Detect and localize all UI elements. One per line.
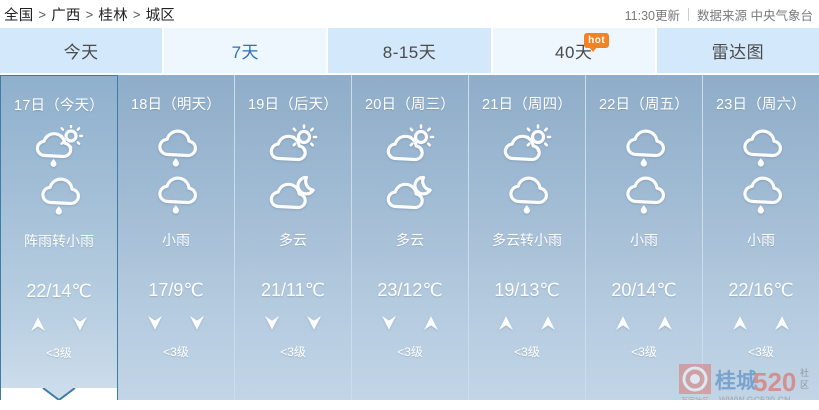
wind-arrow-down-icon [379,313,399,333]
seven-day-forecast: 17日（今天）阵雨转小雨22/14℃<3级18日（明天）小雨17/9℃<3级19… [0,75,819,400]
temperature-range: 21/11℃ [261,280,325,301]
weather-icons [733,124,789,216]
wind-arrow-up-icon [730,313,750,333]
sun-cloud-icon [382,124,438,169]
forecast-range-tabs: 今天 7天 8-15天 40天 hot 雷达图 [0,28,819,73]
wind-arrow-down-icon [187,313,207,333]
sun-cloud-icon [265,124,321,169]
tab-today[interactable]: 今天 [0,28,164,73]
weather-icons [31,125,87,217]
rain-cloud-icon [31,172,87,217]
page-header: 全国 > 广西 > 桂林 > 城区 11:30更新 数据来源 中央气象台 [0,0,819,28]
forecast-date: 21日（周四） [482,93,572,114]
tab-40-days[interactable]: 40天 hot [493,28,657,73]
breadcrumb-separator-icon: > [86,7,94,22]
wind-arrow-down-icon [304,313,324,333]
forecast-date: 20日（周三） [365,93,455,114]
forecast-day-column[interactable]: 20日（周三）多云23/12℃<3级 [352,75,469,400]
hot-badge-icon: hot [584,33,609,48]
wind-arrow-up-icon [421,313,441,333]
wind-direction-row [730,313,792,333]
wind-arrow-up-icon [772,313,792,333]
sun-shower-icon [31,125,87,170]
update-time: 11:30更新 [625,5,680,24]
wind-level: <3级 [163,343,189,360]
wind-level: <3级 [46,344,72,361]
temperature-range: 22/14℃ [26,281,91,302]
forecast-date: 17日（今天） [14,94,104,115]
wind-direction-row [262,313,324,333]
moon-cloud-icon [382,171,438,216]
sun-cloud-icon [499,124,555,169]
wind-arrow-up-icon [655,313,675,333]
meta-divider [688,8,689,21]
weather-condition: 阵雨转小雨 [24,231,94,251]
wind-arrow-up-icon [28,314,48,334]
moon-cloud-icon [265,171,321,216]
wind-arrow-up-icon [496,313,516,333]
wind-level: <3级 [631,343,657,360]
breadcrumb: 全国 > 广西 > 桂林 > 城区 [4,4,175,25]
tab-8-15-days-label: 8-15天 [383,38,437,63]
tab-7-days-label: 7天 [232,38,259,63]
rain-cloud-icon [499,171,555,216]
tab-radar-map-label: 雷达图 [712,38,765,63]
weather-icons [148,124,204,216]
wind-arrow-up-icon [538,313,558,333]
forecast-day-column[interactable]: 19日（后天）多云21/11℃<3级 [235,75,352,400]
tab-7-days[interactable]: 7天 [164,28,328,73]
tab-today-label: 今天 [64,38,99,63]
forecast-day-column[interactable]: 23日（周六）小雨22/16℃<3级 [703,75,819,400]
weather-forecast-page: 全国 > 广西 > 桂林 > 城区 11:30更新 数据来源 中央气象台 今天 … [0,0,819,410]
weather-condition: 多云转小雨 [492,230,562,250]
rain-cloud-icon [616,124,672,169]
breadcrumb-item-district[interactable]: 城区 [146,4,175,25]
forecast-day-column[interactable]: 22日（周五）小雨20/14℃<3级 [586,75,703,400]
weather-condition: 多云 [396,230,424,250]
wind-level: <3级 [748,343,774,360]
breadcrumb-separator-icon: > [38,7,46,22]
forecast-date: 23日（周六） [716,93,806,114]
data-source: 数据来源 中央气象台 [697,5,813,24]
rain-cloud-icon [616,171,672,216]
wind-level: <3级 [514,343,540,360]
weather-icons [382,124,438,216]
forecast-day-column[interactable]: 17日（今天）阵雨转小雨22/14℃<3级 [0,75,118,400]
rain-cloud-icon [733,124,789,169]
temperature-range: 19/13℃ [494,280,559,301]
weather-icons [616,124,672,216]
breadcrumb-item-province[interactable]: 广西 [51,4,80,25]
wind-arrow-down-icon [262,313,282,333]
temperature-range: 23/12℃ [377,280,442,301]
wind-arrow-down-icon [70,314,90,334]
wind-direction-row [28,314,90,334]
forecast-day-column[interactable]: 21日（周四）多云转小雨19/13℃<3级 [469,75,586,400]
breadcrumb-item-country[interactable]: 全国 [4,4,33,25]
forecast-date: 18日（明天） [131,93,221,114]
wind-arrow-down-icon [145,313,165,333]
weather-icons [265,124,321,216]
rain-cloud-icon [148,171,204,216]
selected-day-pointer-icon [1,388,117,400]
wind-level: <3级 [280,343,306,360]
wind-direction-row [613,313,675,333]
forecast-date: 22日（周五） [599,93,689,114]
temperature-range: 20/14℃ [611,280,676,301]
forecast-day-column[interactable]: 18日（明天）小雨17/9℃<3级 [118,75,235,400]
breadcrumb-item-city[interactable]: 桂林 [98,4,127,25]
weather-condition: 多云 [279,230,307,250]
wind-arrow-up-icon [613,313,633,333]
page-footer-strip [0,400,819,410]
breadcrumb-separator-icon: > [133,7,141,22]
wind-direction-row [496,313,558,333]
weather-condition: 小雨 [747,230,775,250]
wind-direction-row [145,313,207,333]
forecast-date: 19日（后天） [248,93,338,114]
tab-radar-map[interactable]: 雷达图 [657,28,819,73]
weather-condition: 小雨 [630,230,658,250]
wind-level: <3级 [397,343,423,360]
temperature-range: 22/16℃ [728,280,793,301]
weather-icons [499,124,555,216]
tab-8-15-days[interactable]: 8-15天 [328,28,492,73]
weather-condition: 小雨 [162,230,190,250]
rain-cloud-icon [148,124,204,169]
rain-cloud-icon [733,171,789,216]
temperature-range: 17/9℃ [148,280,203,301]
wind-direction-row [379,313,441,333]
header-meta: 11:30更新 数据来源 中央气象台 [625,5,813,24]
